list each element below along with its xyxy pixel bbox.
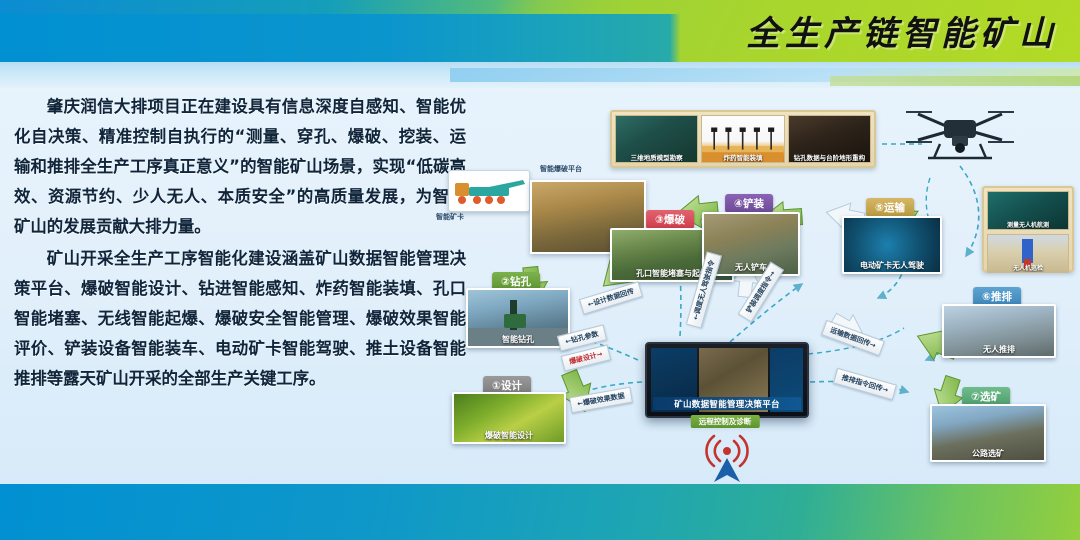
strip-cell-3-caption: 钻孔数据与台阶地形重构 [789,152,870,162]
node-haul-badge: ⑤运输 [866,198,914,217]
node-ore-caption: 公路选矿 [932,448,1044,459]
paragraph-2: 矿山开采全生产工序智能化建设涵盖矿山数据智能管理决策平台、爆破智能设计、钻进智能… [14,244,466,394]
hub-subtitle: 远程控制及诊断 [691,415,760,428]
hub-title-bar: 矿山数据智能管理决策平台 [653,397,801,410]
node-drill-caption: 智能钻孔 [468,334,568,345]
node-design-caption: 爆破智能设计 [454,430,564,441]
page-title: 全生产链智能矿山 [746,6,1058,54]
strip-cell-2-caption: 炸药智能装填 [702,152,783,162]
node-drill-thumb: 智能钻孔 [466,288,570,348]
node-dozer-thumb: 无人推排 [942,304,1056,358]
node-design-thumb: 爆破智能设计 [452,392,566,444]
footer-bar [0,484,1080,540]
wireless-signal-icon [692,432,762,484]
strip-cell-1: 三维地质模型勘察 [615,115,698,163]
paragraph-1: 肇庆润信大排项目正在建设具有信息深度自感知、智能优化自决策、精准控制自执行的“测… [14,92,466,242]
hub-screen: 矿山数据智能管理决策平台 [645,342,809,418]
poster-page: 全生产链智能矿山 肇庆润信大排项目正在建设具有信息深度自感知、智能优化自决策、精… [0,0,1080,540]
smart-truck-illustration [448,170,530,212]
pair-cell-2: 无人机巡检 [987,234,1069,273]
header-green-chip [830,76,1080,86]
right-image-pair: 测量无人机航测 无人机巡检 [982,186,1074,272]
top-image-strip: 三维地质模型勘察 炸药智能装填 [610,110,876,168]
strip-cell-1-caption: 三维地质模型勘察 [616,152,697,162]
central-hub[interactable]: 矿山数据智能管理决策平台 远程控制及诊断 [645,342,805,428]
node-dozer-caption: 无人推排 [944,344,1054,355]
header-bar: 全生产链智能矿山 [0,0,1080,62]
node-shovel-badge: ④铲装 [725,194,773,213]
node-ore-thumb: 公路选矿 [930,404,1046,462]
hub-title: 矿山数据智能管理决策平台 [674,398,780,410]
pair-cell-1: 测量无人机航测 [987,191,1069,230]
node-drill[interactable]: ②钻孔 智能钻孔 [466,288,566,348]
node-dozer[interactable]: ⑥推排 无人推排 [942,304,1052,358]
node-haul-thumb: 电动矿卡无人驾驶 [842,216,942,274]
strip-cell-3: 钻孔数据与台阶地形重构 [788,115,871,163]
workflow-diagram: 三维地质模型勘察 炸药智能装填 [430,92,1080,492]
node-haul[interactable]: ⑤运输 电动矿卡无人驾驶 [842,216,938,274]
node-haul-caption: 电动矿卡无人驾驶 [844,260,940,271]
pair-cell-2-caption: 无人机巡检 [988,263,1068,272]
node-ore[interactable]: ⑦选矿 公路选矿 [930,404,1042,462]
article-text-panel: 肇庆润信大排项目正在建设具有信息深度自感知、智能优化自决策、精准控制自执行的“测… [14,92,466,484]
footer-gradient [0,484,1080,540]
site-caption: 智能爆破平台 [540,164,582,174]
drone-icon [900,100,1020,166]
strip-cell-2: 炸药智能装填 [701,115,784,163]
smart-truck-caption: 智能矿卡 [436,212,464,222]
pair-cell-1-caption: 测量无人机航测 [988,220,1068,229]
node-design[interactable]: ①设计 爆破智能设计 [452,392,562,444]
node-blast-badge: ③爆破 [646,210,694,229]
